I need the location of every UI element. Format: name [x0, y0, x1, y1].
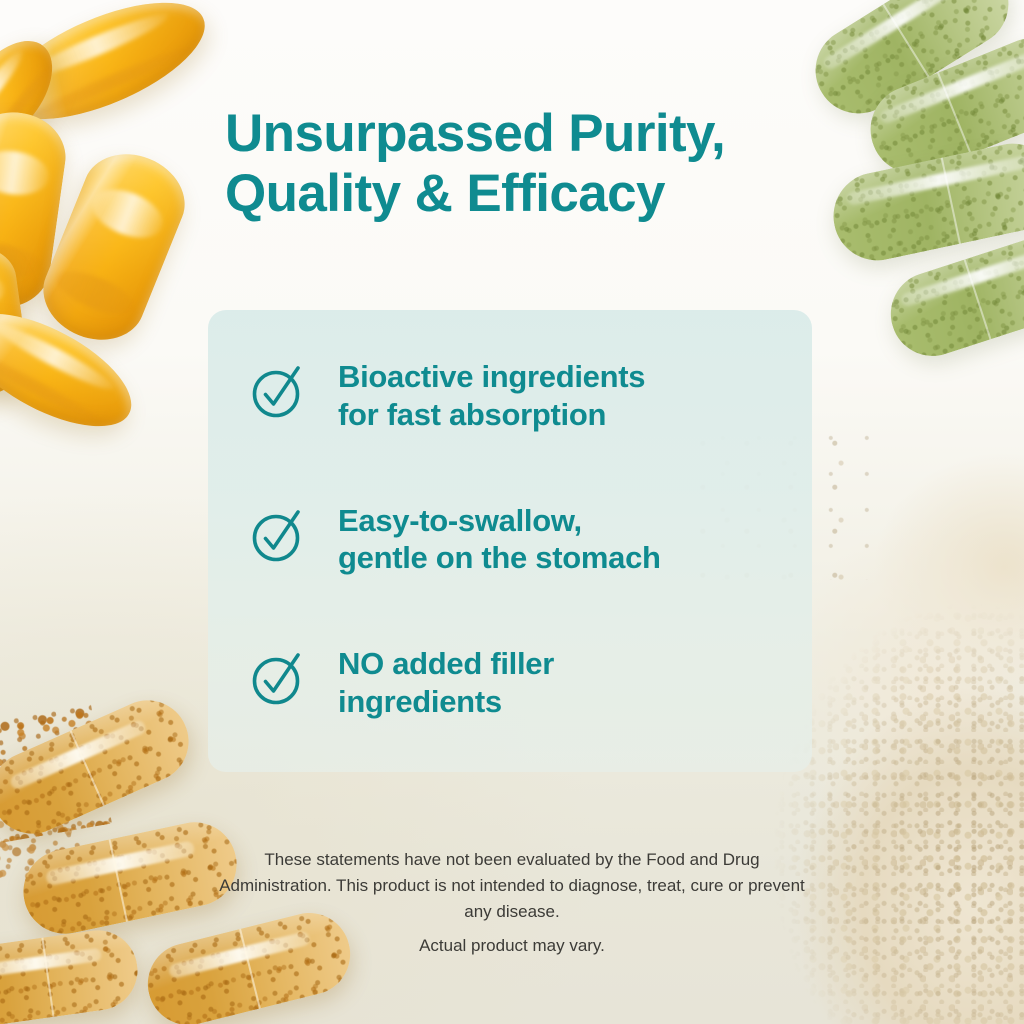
benefit-item: Easy-to-swallow,gentle on the stomach: [248, 496, 788, 578]
capsule-joint-band: [109, 839, 128, 922]
benefit-label: Easy-to-swallow,gentle on the stomach: [338, 496, 661, 578]
benefit-label: NO added filleringredients: [338, 639, 554, 721]
benefit-label: Bioactive ingredientsfor fast absorption: [338, 352, 645, 434]
benefit-item: NO added filleringredients: [248, 639, 788, 721]
page-title: Unsurpassed Purity,Quality & Efficacy: [225, 104, 845, 225]
circle-check-icon: [248, 358, 312, 422]
benefit-item: Bioactive ingredientsfor fast absorption: [248, 352, 788, 434]
product-variance-note: Actual product may vary.: [212, 933, 812, 959]
circle-check-icon: [248, 502, 312, 566]
circle-check-icon: [248, 645, 312, 709]
infographic-canvas: Unsurpassed Purity,Quality & Efficacy Bi…: [0, 0, 1024, 1024]
capsule-gloss: [45, 841, 196, 886]
capsule-joint-band: [41, 938, 54, 1017]
capsule-joint-band: [940, 158, 960, 244]
fda-disclaimer: These statements have not been evaluated…: [212, 847, 812, 925]
capsule-joint-band: [882, 4, 929, 78]
capsule-joint-band: [937, 72, 972, 154]
capsule-gloss: [0, 947, 102, 979]
capsule-joint-band: [964, 259, 992, 340]
benefits-list: Bioactive ingredientsfor fast absorption…: [248, 352, 788, 721]
